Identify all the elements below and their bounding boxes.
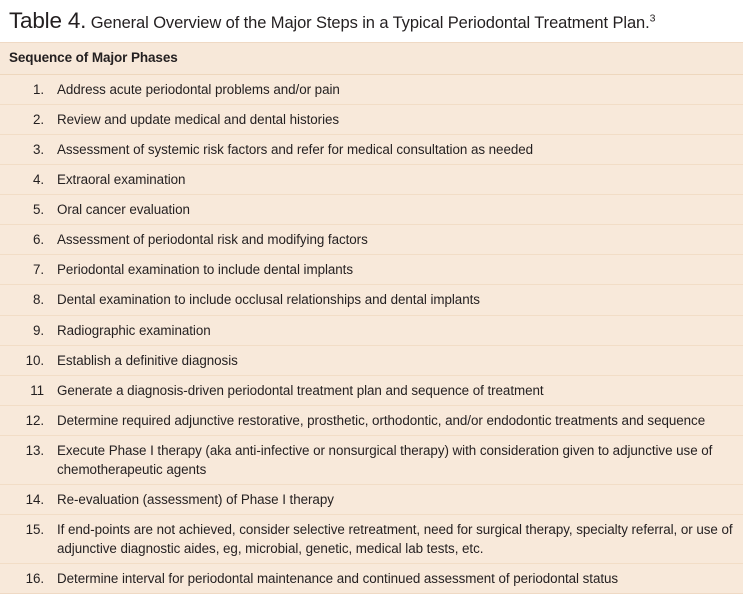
table-row-text: Periodontal examination to include denta… [44,260,733,279]
table-row-number: 12. [0,411,44,430]
table-row-text: Address acute periodontal problems and/o… [44,80,733,99]
table-row-number: 5. [0,200,44,219]
table-row-text: Generate a diagnosis-driven periodontal … [44,381,733,400]
table-column-header-sequence: Sequence of Major Phases [9,50,178,65]
table-row: 16.Determine interval for periodontal ma… [0,563,743,593]
table-caption-text: General Overview of the Major Steps in a… [91,14,650,32]
table-row: 15.If end-points are not achieved, consi… [0,514,743,563]
table-row-number: 7. [0,260,44,279]
table-row-number: 10. [0,351,44,370]
table-row-number: 11 [0,381,44,400]
table-row-text: Radiographic examination [44,321,733,340]
table-row: 5.Oral cancer evaluation [0,194,743,224]
table-caption: Table 4. General Overview of the Major S… [0,0,743,35]
table-row-text: Determine required adjunctive restorativ… [44,411,733,430]
table-row-text: Establish a definitive diagnosis [44,351,733,370]
table-row: 3.Assessment of systemic risk factors an… [0,134,743,164]
table-row-number: 3. [0,140,44,159]
table-row: 1.Address acute periodontal problems and… [0,75,743,104]
table-row-number: 13. [0,441,44,460]
table-row-number: 6. [0,230,44,249]
table-caption-label: Table 4. [9,8,86,33]
table-row: 14.Re-evaluation (assessment) of Phase I… [0,484,743,514]
table-row: 4.Extraoral examination [0,164,743,194]
table-row-number: 1. [0,80,44,99]
table-header-row: Sequence of Major Phases [0,43,743,75]
table-row-number: 2. [0,110,44,129]
table-row: 12.Determine required adjunctive restora… [0,405,743,435]
table-row-number: 8. [0,290,44,309]
table-row-number: 4. [0,170,44,189]
table-row: 7.Periodontal examination to include den… [0,254,743,284]
table-row-number: 15. [0,520,44,539]
table-row-text: Determine interval for periodontal maint… [44,569,733,588]
table-row-text: Assessment of periodontal risk and modif… [44,230,733,249]
table-row: 9.Radiographic examination [0,315,743,345]
table-row: 6.Assessment of periodontal risk and mod… [0,224,743,254]
table-row-text: Assessment of systemic risk factors and … [44,140,733,159]
table-row: 2.Review and update medical and dental h… [0,104,743,134]
table-block: Sequence of Major Phases 1.Address acute… [0,42,743,594]
table-row: 10.Establish a definitive diagnosis [0,345,743,375]
table-row-text: Extraoral examination [44,170,733,189]
table-caption-superscript: 3 [650,13,656,25]
table-row-number: 16. [0,569,44,588]
table-row-text: Execute Phase I therapy (aka anti-infect… [44,441,733,479]
table-row: 13.Execute Phase I therapy (aka anti-inf… [0,435,743,484]
table-row-number: 9. [0,321,44,340]
table-row-text: Dental examination to include occlusal r… [44,290,733,309]
table-row-text: Re-evaluation (assessment) of Phase I th… [44,490,733,509]
table-row: 11Generate a diagnosis-driven periodonta… [0,375,743,405]
table-row-number: 14. [0,490,44,509]
table-row-text: Review and update medical and dental his… [44,110,733,129]
table-row-text: If end-points are not achieved, consider… [44,520,733,558]
table-body: 1.Address acute periodontal problems and… [0,75,743,593]
table-row: 8.Dental examination to include occlusal… [0,284,743,314]
table-figure: Table 4. General Overview of the Major S… [0,0,743,553]
table-row-text: Oral cancer evaluation [44,200,733,219]
